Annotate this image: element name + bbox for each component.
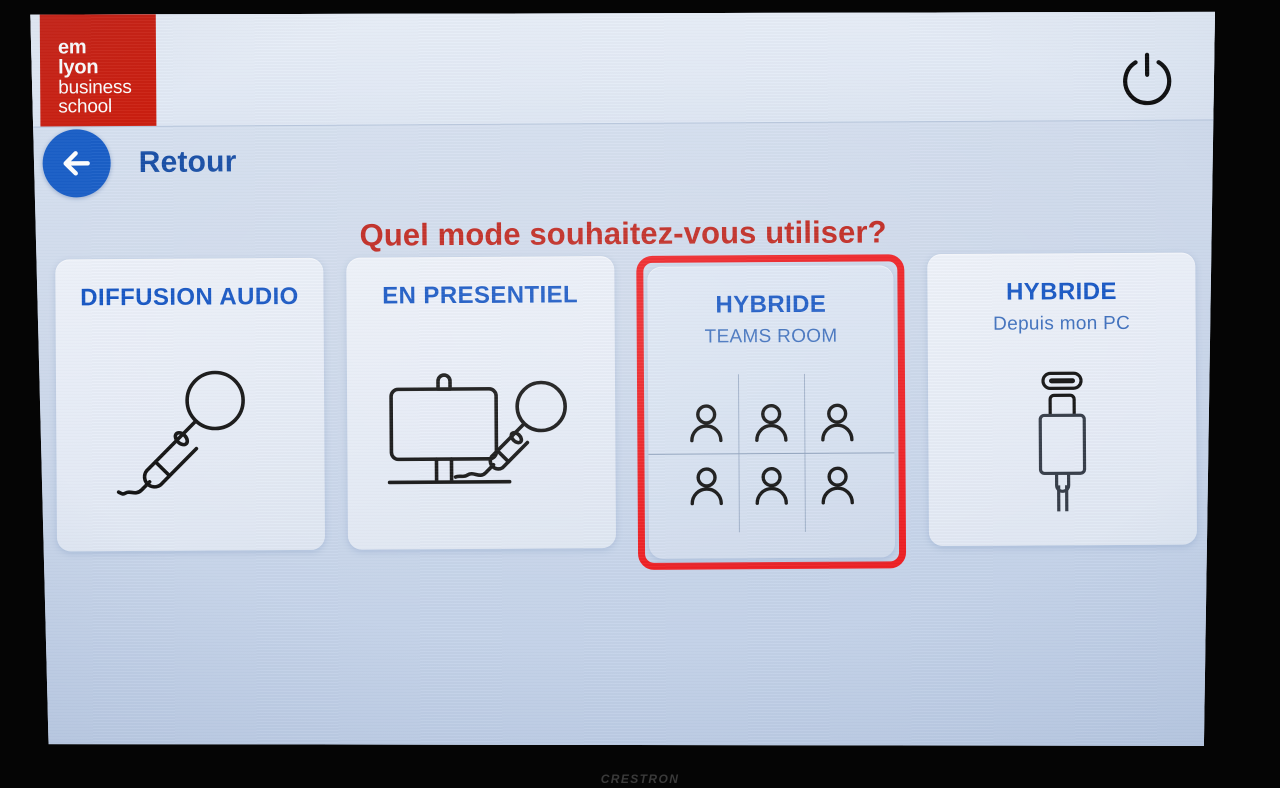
mode-card-subtitle: Depuis mon PC [993, 313, 1130, 336]
usb-c-cable-icon [928, 335, 1197, 546]
mode-card-title: EN PRESENTIEL [382, 282, 578, 310]
mode-card-title: DIFFUSION AUDIO [80, 284, 299, 312]
microphone-icon [56, 310, 325, 551]
back-navigation[interactable]: Retour [24, 128, 236, 197]
mode-card-hybride-teams-room[interactable]: HYBRIDE TEAMS ROOM [648, 265, 896, 558]
mode-card-diffusion-audio[interactable]: DIFFUSION AUDIO [55, 258, 325, 552]
mode-card-hybride-depuis-mon-pc[interactable]: HYBRIDE Depuis mon PC [927, 253, 1197, 547]
person-icon [804, 453, 870, 516]
logo-line-business: business [58, 78, 156, 98]
mode-card-title: HYBRIDE [715, 292, 826, 319]
mode-card-slot-hybride-depuis-mon-pc: HYBRIDE Depuis mon PC [927, 253, 1197, 555]
page-title: Quel mode souhaitez-vous utiliser? [25, 212, 1221, 255]
device-bezel: em lyon business school [0, 0, 1280, 788]
display-microphone-icon [346, 308, 615, 549]
logo-line-school: school [58, 97, 156, 117]
people-grid [673, 390, 870, 517]
mode-card-en-presentiel[interactable]: EN PRESENTIEL [346, 256, 616, 550]
app-header: em lyon business school [24, 4, 1221, 127]
person-icon [739, 453, 805, 516]
logo-line-em: em [58, 37, 156, 58]
arrow-left-icon [55, 141, 99, 185]
power-icon[interactable] [1116, 49, 1178, 111]
mode-card-title: HYBRIDE [1006, 279, 1117, 306]
emlyon-logo: em lyon business school [40, 13, 157, 127]
person-icon [673, 390, 739, 453]
logo-line-lyon: lyon [58, 57, 156, 78]
person-icon [804, 390, 870, 453]
people-grid-icon [648, 348, 895, 559]
mode-card-slot-hybride-teams-room: HYBRIDE TEAMS ROOM [637, 254, 907, 570]
back-button[interactable] [42, 129, 110, 197]
mode-card-slot-en-presentiel: EN PRESENTIEL [346, 256, 616, 558]
crestron-brand-label: CRESTRON [0, 772, 1280, 786]
person-icon [739, 390, 805, 453]
mode-card-list: DIFFUSION AUDIO [55, 253, 1197, 580]
back-label: Retour [139, 145, 237, 180]
mode-card-slot-diffusion-audio: DIFFUSION AUDIO [55, 258, 325, 560]
mode-card-subtitle: TEAMS ROOM [705, 326, 838, 349]
person-icon [674, 453, 740, 516]
touch-panel-screen: em lyon business school [24, 4, 1225, 757]
